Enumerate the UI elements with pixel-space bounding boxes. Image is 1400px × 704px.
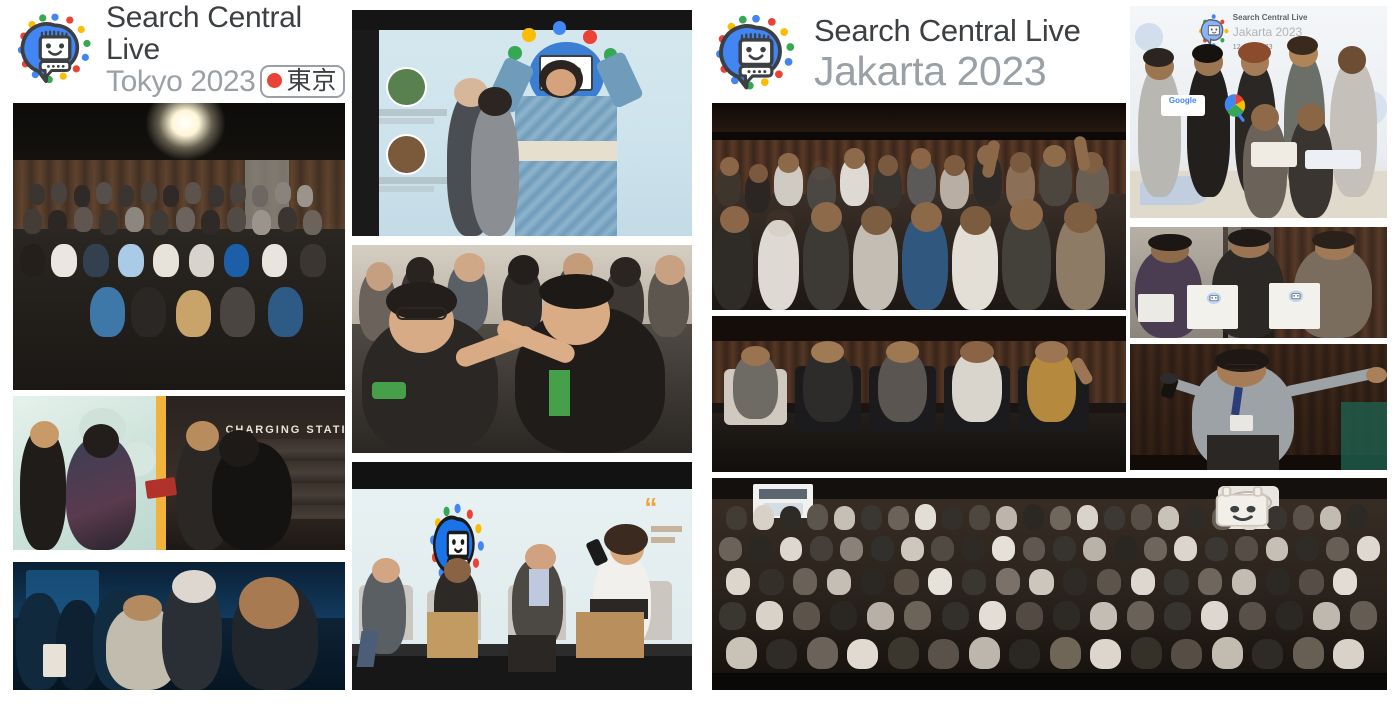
photo-tokyo-charging-station: CHARGING STATION xyxy=(13,396,345,550)
photo-tokyo-networking-blue-room xyxy=(13,562,345,690)
photo-jakarta-audience-group xyxy=(712,103,1126,310)
event-title-secondary-tokyo: Tokyo 2023 xyxy=(106,66,255,98)
backdrop-title-secondary: Jakarta 2023 xyxy=(1233,25,1302,39)
photo-jakarta-tote-bag-winners xyxy=(1130,227,1387,338)
japan-badge-label: 東京 xyxy=(286,68,336,93)
event-photo-collage: Search Central Live Tokyo 2023 東京 xyxy=(0,0,1400,704)
photo-jakarta-photo-wall-group: Search Central Live Jakarta 2023 12 July… xyxy=(1130,6,1387,218)
photo-tokyo-heart-hands-attendees xyxy=(352,245,692,453)
search-central-live-mascot-logo xyxy=(712,10,800,98)
photo-tokyo-speaker-kimono-stage xyxy=(352,10,692,236)
japan-location-badge: 東京 xyxy=(260,65,345,98)
search-central-live-mascot-logo xyxy=(14,9,96,91)
photo-tokyo-audience-group xyxy=(13,103,345,390)
event-title-secondary-jakarta: Jakarta 2023 xyxy=(814,50,1081,93)
photo-jakarta-speaker-microphone xyxy=(1130,344,1387,470)
photo-jakarta-panel-discussion xyxy=(712,316,1126,472)
event-header-tokyo: Search Central Live Tokyo 2023 東京 xyxy=(14,10,354,90)
photo-jakarta-full-group-photo xyxy=(712,478,1387,690)
slide-speaker-portrait xyxy=(386,67,427,108)
event-title-primary-jakarta: Search Central Live xyxy=(814,15,1081,48)
event-title-primary-tokyo: Search Central Live xyxy=(106,2,354,65)
event-header-jakarta: Search Central Live Jakarta 2023 xyxy=(712,8,1112,100)
japan-flag-dot xyxy=(267,73,282,88)
photo-tokyo-panel-discussion: “ xyxy=(352,462,692,690)
backdrop-title-primary: Search Central Live xyxy=(1233,13,1308,22)
slide-speaker-portrait xyxy=(386,134,427,175)
